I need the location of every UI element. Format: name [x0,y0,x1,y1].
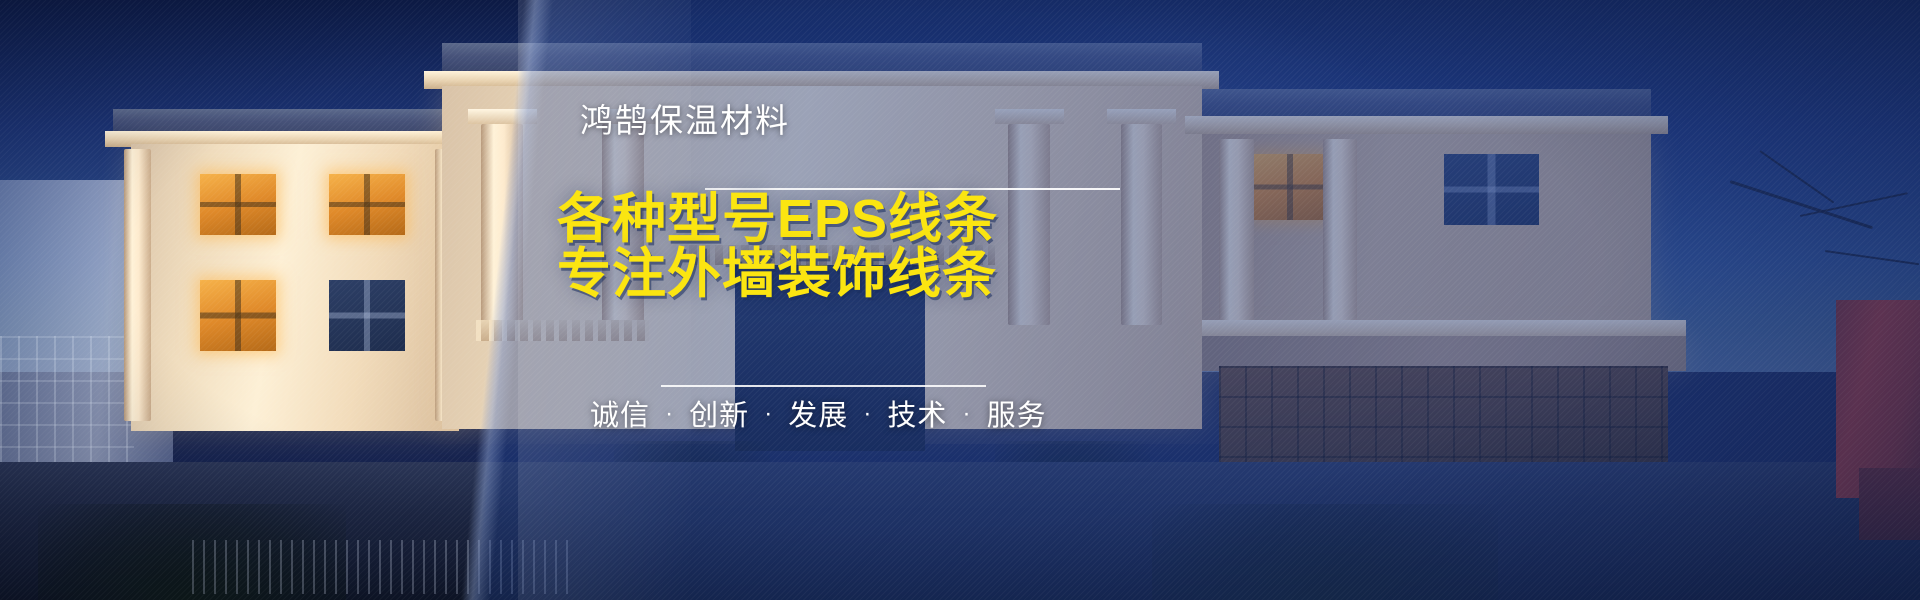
tagline-separator: · [659,400,680,427]
headline-line-2: 专注外墙装饰线条 [557,247,998,302]
banner-content: 鸿鹄保温材料 各种型号EPS线条 专注外墙装饰线条 诚信 · 创新 · 发展 ·… [553,0,1053,600]
divider-bottom [661,385,986,387]
tagline-item: 发展 [788,400,848,432]
hero-banner: 鸿鹄保温材料 各种型号EPS线条 专注外墙装饰线条 诚信 · 创新 · 发展 ·… [0,0,1920,600]
tagline-item: 技术 [887,400,947,432]
tagline-separator: · [957,400,978,427]
headline-line-1: 各种型号EPS线条 [557,192,998,247]
tagline-separator: · [857,400,878,427]
tagline-item: 创新 [689,400,749,432]
headline: 各种型号EPS线条 专注外墙装饰线条 [557,192,998,302]
tagline: 诚信 · 创新 · 发展 · 技术 · 服务 [590,398,1047,436]
tagline-separator: · [758,400,779,427]
tagline-item: 服务 [987,400,1047,432]
brand-name: 鸿鹄保温材料 [580,104,790,137]
tagline-item: 诚信 [590,400,650,432]
